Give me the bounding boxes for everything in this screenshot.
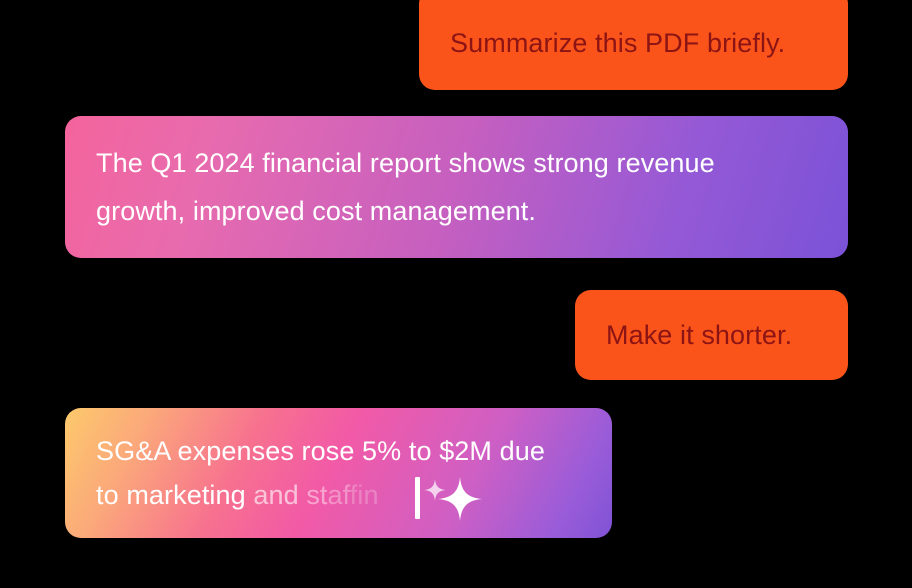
message-text-line-1: SG&A expenses rose 5% to $2M due [96, 429, 581, 473]
message-text: Make it shorter. [606, 318, 817, 352]
message-text-fade-2: st [299, 480, 328, 510]
message-bubble-user-1[interactable]: Summarize this PDF briefly. [419, 0, 848, 90]
message-text: Summarize this PDF briefly. [450, 18, 817, 60]
message-text-line-2: to marketing and staffin [96, 473, 581, 517]
message-text-solid: to marketing [96, 480, 246, 510]
message-text-line-1: The Q1 2024 financial report shows stron… [96, 139, 817, 187]
sparkle-icon [438, 473, 482, 525]
chat-surface: Summarize this PDF briefly. The Q1 2024 … [0, 0, 912, 588]
message-bubble-assistant-1[interactable]: The Q1 2024 financial report shows stron… [65, 116, 848, 258]
text-caret [415, 477, 420, 519]
message-bubble-assistant-2-streaming[interactable]: SG&A expenses rose 5% to $2M due to mark… [65, 408, 612, 538]
message-text-fade-3: af [328, 480, 350, 510]
message-text-line-2: growth, improved cost management. [96, 187, 817, 235]
message-text-fade-1: and [246, 480, 299, 510]
message-bubble-user-2[interactable]: Make it shorter. [575, 290, 848, 380]
message-text-fade-4: fin [350, 480, 379, 510]
